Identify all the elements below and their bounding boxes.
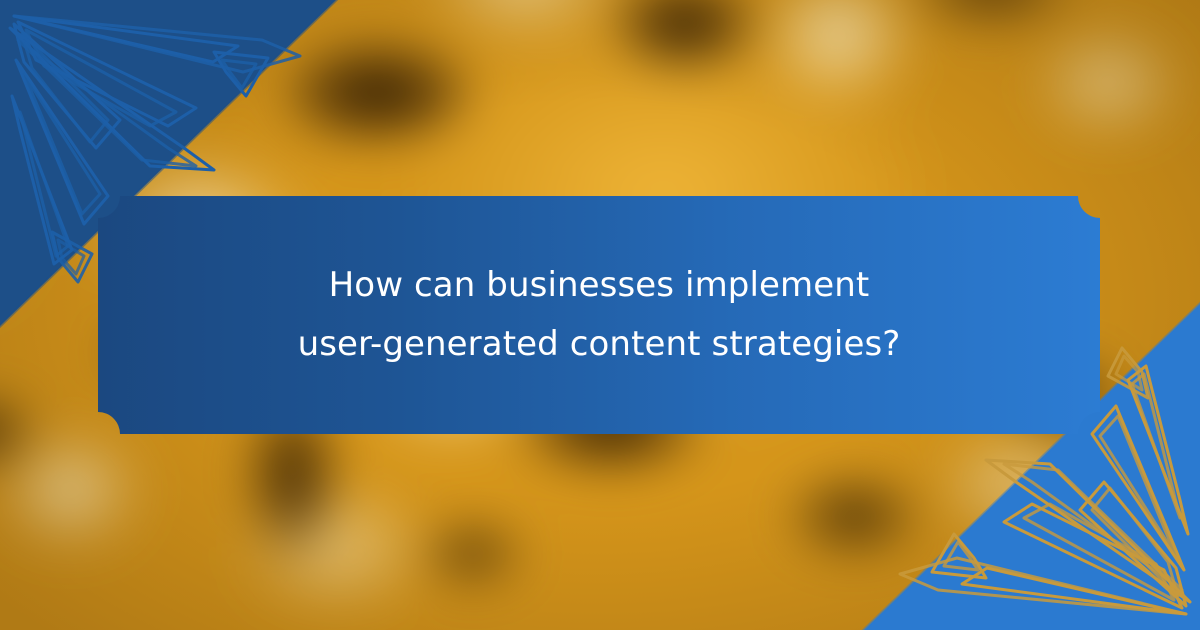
question-line-2: user-generated content strategies? xyxy=(168,315,1030,374)
question-banner: How can businesses implement user-genera… xyxy=(98,196,1100,434)
question-card: How can businesses implement user-genera… xyxy=(0,0,1200,630)
question-text: How can businesses implement user-genera… xyxy=(98,256,1100,374)
question-line-1: How can businesses implement xyxy=(168,256,1030,315)
